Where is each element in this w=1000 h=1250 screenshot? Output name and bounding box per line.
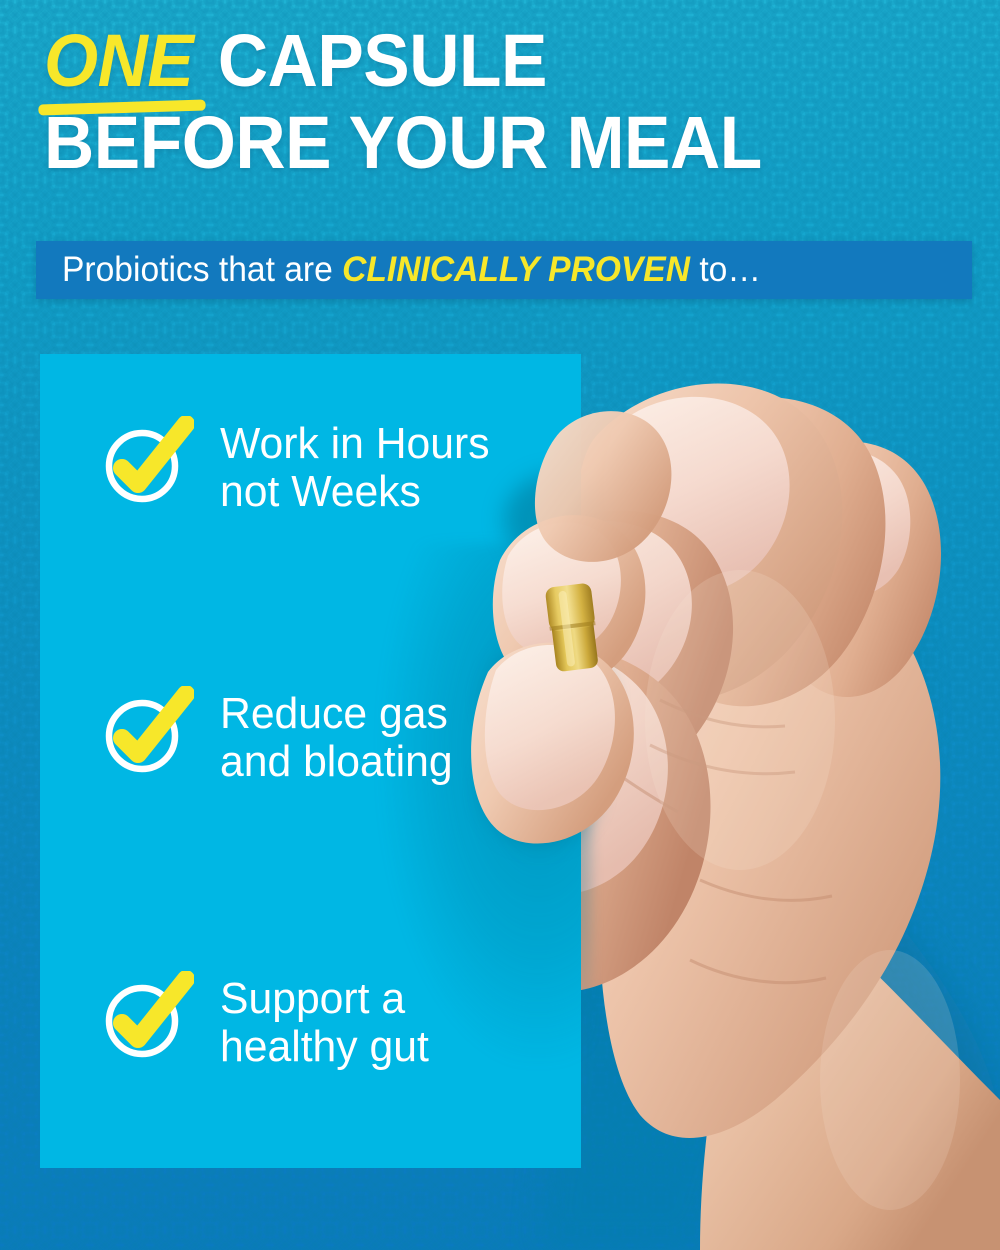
benefit-label: Work in Hours not Weeks (220, 416, 490, 515)
nail-middle (604, 397, 790, 595)
headline-line-2: BEFORE YOUR MEAL (44, 108, 909, 178)
wrist (700, 880, 1000, 1250)
finger-ring (652, 397, 885, 706)
finger-pinky (780, 442, 942, 697)
check-circle-icon (98, 686, 194, 778)
check-circle-icon (98, 971, 194, 1063)
subtitle-prefix: Probiotics that are (62, 250, 342, 289)
headline-line-1-rest: CAPSULE (199, 19, 547, 102)
subtitle-text: Probiotics that are CLINICALLY PROVEN to… (62, 250, 761, 290)
headline-line-1: ONE CAPSULE (44, 26, 909, 96)
benefit-item: Reduce gas and bloating (98, 686, 460, 785)
hand-highlight (645, 570, 835, 870)
hand-creases (612, 700, 832, 983)
wrist-highlight (820, 950, 960, 1210)
benefit-item: Support a healthy gut (98, 971, 435, 1070)
nail-pinky (798, 450, 910, 597)
back-of-hand (599, 550, 941, 1138)
promo-image-root: Work in Hours not Weeks Reduce gas and b… (0, 0, 1000, 1250)
check-circle-icon (98, 416, 194, 508)
page-title: ONE CAPSULE BEFORE YOUR MEAL (44, 26, 909, 179)
benefit-label: Reduce gas and bloating (220, 686, 453, 785)
subtitle-banner: Probiotics that are CLINICALLY PROVEN to… (36, 241, 972, 299)
benefits-panel: Work in Hours not Weeks Reduce gas and b… (40, 354, 581, 1168)
subtitle-suffix: to… (690, 250, 761, 289)
finger-middle (570, 383, 843, 701)
subtitle-emphasis: CLINICALLY PROVEN (342, 250, 690, 289)
headline-emphasis-one: ONE (44, 26, 199, 96)
benefit-item: Work in Hours not Weeks (98, 416, 498, 515)
benefit-label: Support a healthy gut (220, 971, 429, 1070)
